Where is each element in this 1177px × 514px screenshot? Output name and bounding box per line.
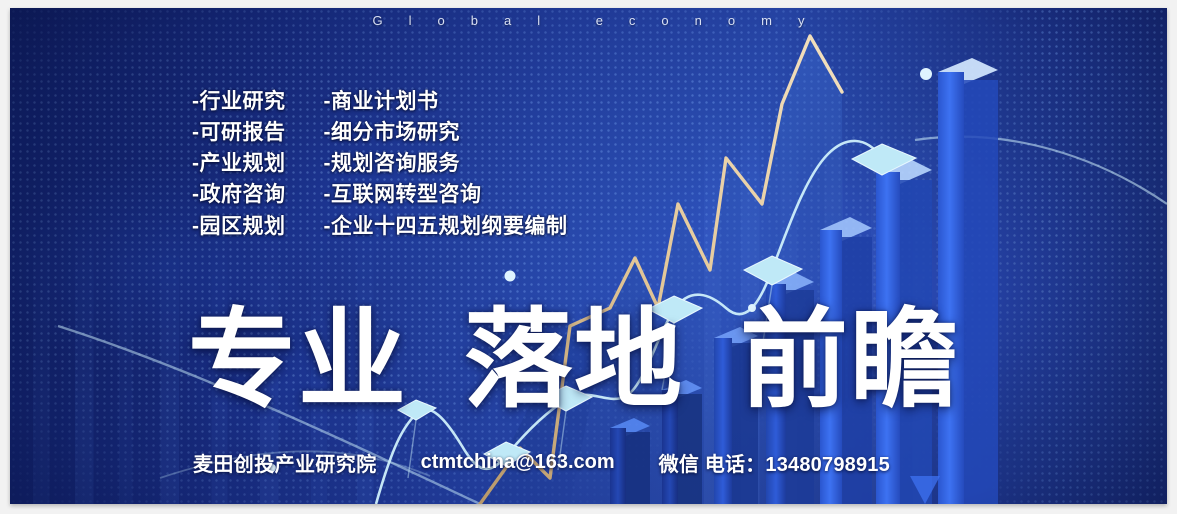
- headline-word: 专业: [188, 306, 408, 414]
- node-dot: [920, 68, 932, 80]
- promo-banner: Global economy -行业研究 -可研报告 -产业规划 -政府咨询 -…: [0, 0, 1177, 514]
- service-item: -商业计划书: [324, 90, 568, 114]
- service-item: -规划咨询服务: [324, 152, 568, 176]
- node-dot: [505, 271, 516, 282]
- services-left-column: -行业研究 -可研报告 -产业规划 -政府咨询 -园区规划: [192, 90, 286, 239]
- service-item: -细分市场研究: [324, 121, 568, 145]
- footer-contact-row: 麦田创投产业研究院 ctmtchina@163.com 微信 电话：134807…: [193, 448, 890, 477]
- service-item: -园区规划: [192, 215, 286, 239]
- headline-word: 落地: [464, 306, 684, 414]
- page-title: 专业 落地 前瞻: [188, 306, 960, 414]
- services-lists: -行业研究 -可研报告 -产业规划 -政府咨询 -园区规划 -商业计划书 -细分…: [192, 90, 568, 239]
- email-address: ctmtchina@163.com: [421, 451, 615, 474]
- service-item: -互联网转型咨询: [324, 183, 568, 207]
- phone-contact: 微信 电话：13480798915: [659, 448, 890, 477]
- service-item: -产业规划: [192, 152, 286, 176]
- banner-stage: Global economy -行业研究 -可研报告 -产业规划 -政府咨询 -…: [10, 8, 1167, 504]
- service-item: -政府咨询: [192, 183, 286, 207]
- service-item: -可研报告: [192, 121, 286, 145]
- service-item: -行业研究: [192, 90, 286, 114]
- bar-7: [938, 58, 998, 504]
- chart-artwork: [10, 8, 1167, 504]
- headline-word: 前瞻: [740, 306, 960, 414]
- kicker-global-economy: Global economy: [10, 13, 1167, 28]
- organization-name: 麦田创投产业研究院: [193, 448, 377, 477]
- service-item: -企业十四五规划纲要编制: [324, 215, 568, 239]
- services-right-column: -商业计划书 -细分市场研究 -规划咨询服务 -互联网转型咨询 -企业十四五规划…: [324, 90, 568, 239]
